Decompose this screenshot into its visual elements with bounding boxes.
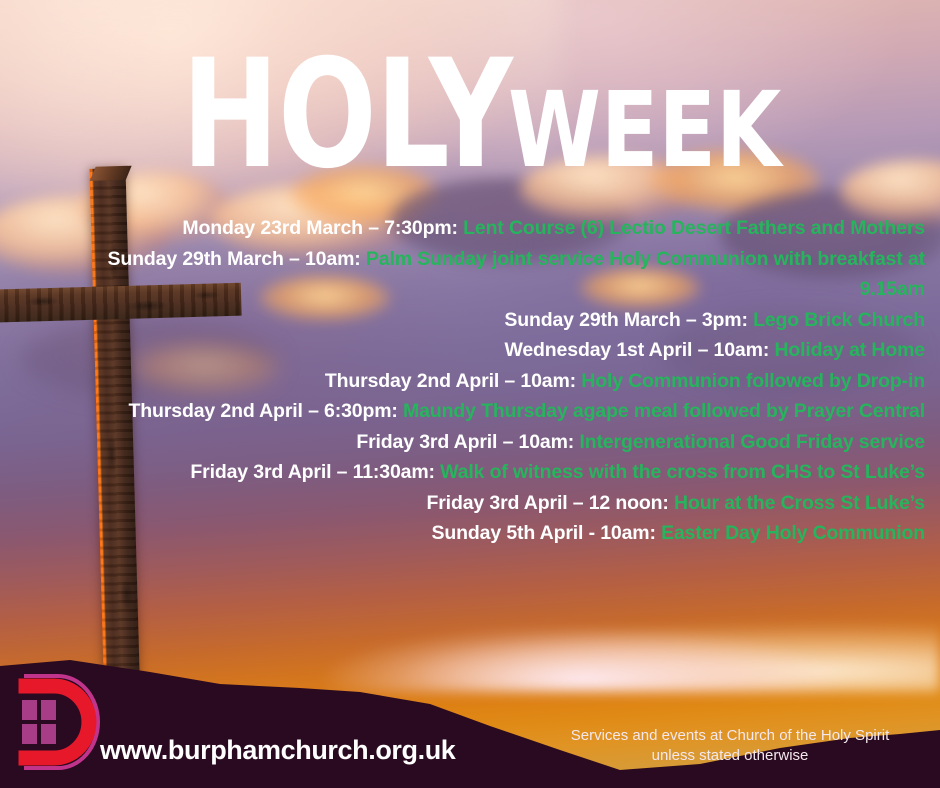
event-when: Sunday 29th March – 10am (108, 248, 355, 270)
event-what: Hour at the Cross St Luke’s (674, 492, 925, 514)
event-item: Thursday 2nd April – 6:30pm: Maundy Thur… (60, 396, 925, 427)
title-word-holy: HOLY (182, 40, 512, 190)
event-item: Friday 3rd April – 12 noon: Hour at the … (60, 488, 925, 519)
event-item: Sunday 29th March – 10am: Palm Sunday jo… (60, 244, 925, 305)
footer-note: Services and events at Church of the Hol… (540, 726, 920, 766)
page-title: HOLYWEEK (0, 40, 940, 190)
holy-week-poster: HOLYWEEK Monday 23rd March – 7:30pm: Len… (0, 0, 940, 788)
burpham-church-b-logo (14, 670, 100, 774)
event-what: Lent Course (6) Lectio Desert Fathers an… (463, 217, 925, 239)
event-item: Friday 3rd April – 10am: Intergeneration… (60, 427, 925, 458)
event-item: Friday 3rd April – 11:30am: Walk of witn… (60, 457, 925, 488)
event-item: Monday 23rd March – 7:30pm: Lent Course … (60, 213, 925, 244)
footer-note-line-1: Services and events at Church of the Hol… (540, 726, 920, 746)
event-what: Palm Sunday joint service Holy Communion… (366, 248, 925, 301)
event-what: Holy Communion followed by Drop-in (581, 370, 925, 392)
event-when: Thursday 2nd April – 6:30pm: (129, 400, 398, 422)
event-item: Wednesday 1st April – 10am: Holiday at H… (60, 335, 925, 366)
event-item: Sunday 5th April - 10am: Easter Day Holy… (60, 518, 925, 549)
event-when: Friday 3rd April – 12 noon: (426, 492, 668, 514)
event-what: Holiday at Home (774, 339, 925, 361)
event-when: Wednesday 1st April – 10am: (504, 339, 769, 361)
event-when: Friday 3rd April – 11:30am (190, 461, 428, 483)
event-what: Maundy Thursday agape meal followed by P… (403, 400, 925, 422)
event-separator: : (354, 248, 360, 270)
event-what: Walk of witness with the cross from CHS … (440, 461, 925, 483)
website-url[interactable]: www.burphamchurch.org.uk (100, 735, 455, 766)
event-when: Sunday 29th March – 3pm (504, 309, 741, 331)
event-item: Sunday 29th March – 3pm: Lego Brick Chur… (60, 305, 925, 336)
event-separator: : (429, 461, 435, 483)
title-word-week: WEEK (508, 78, 781, 182)
event-when: Sunday 5th April - 10am: (432, 522, 656, 544)
event-when: Friday 3rd April – 10am: (356, 431, 574, 453)
footer-note-line-2: unless stated otherwise (540, 746, 920, 766)
event-what: Easter Day Holy Communion (661, 522, 925, 544)
event-what: Lego Brick Church (753, 309, 925, 331)
event-list: Monday 23rd March – 7:30pm: Lent Course … (60, 213, 925, 549)
event-what: Intergenerational Good Friday service (579, 431, 925, 453)
event-item: Thursday 2nd April – 10am: Holy Communio… (60, 366, 925, 397)
event-when: Thursday 2nd April – 10am: (325, 370, 576, 392)
event-separator: : (741, 309, 747, 331)
event-when: Monday 23rd March – 7:30pm: (182, 217, 458, 239)
